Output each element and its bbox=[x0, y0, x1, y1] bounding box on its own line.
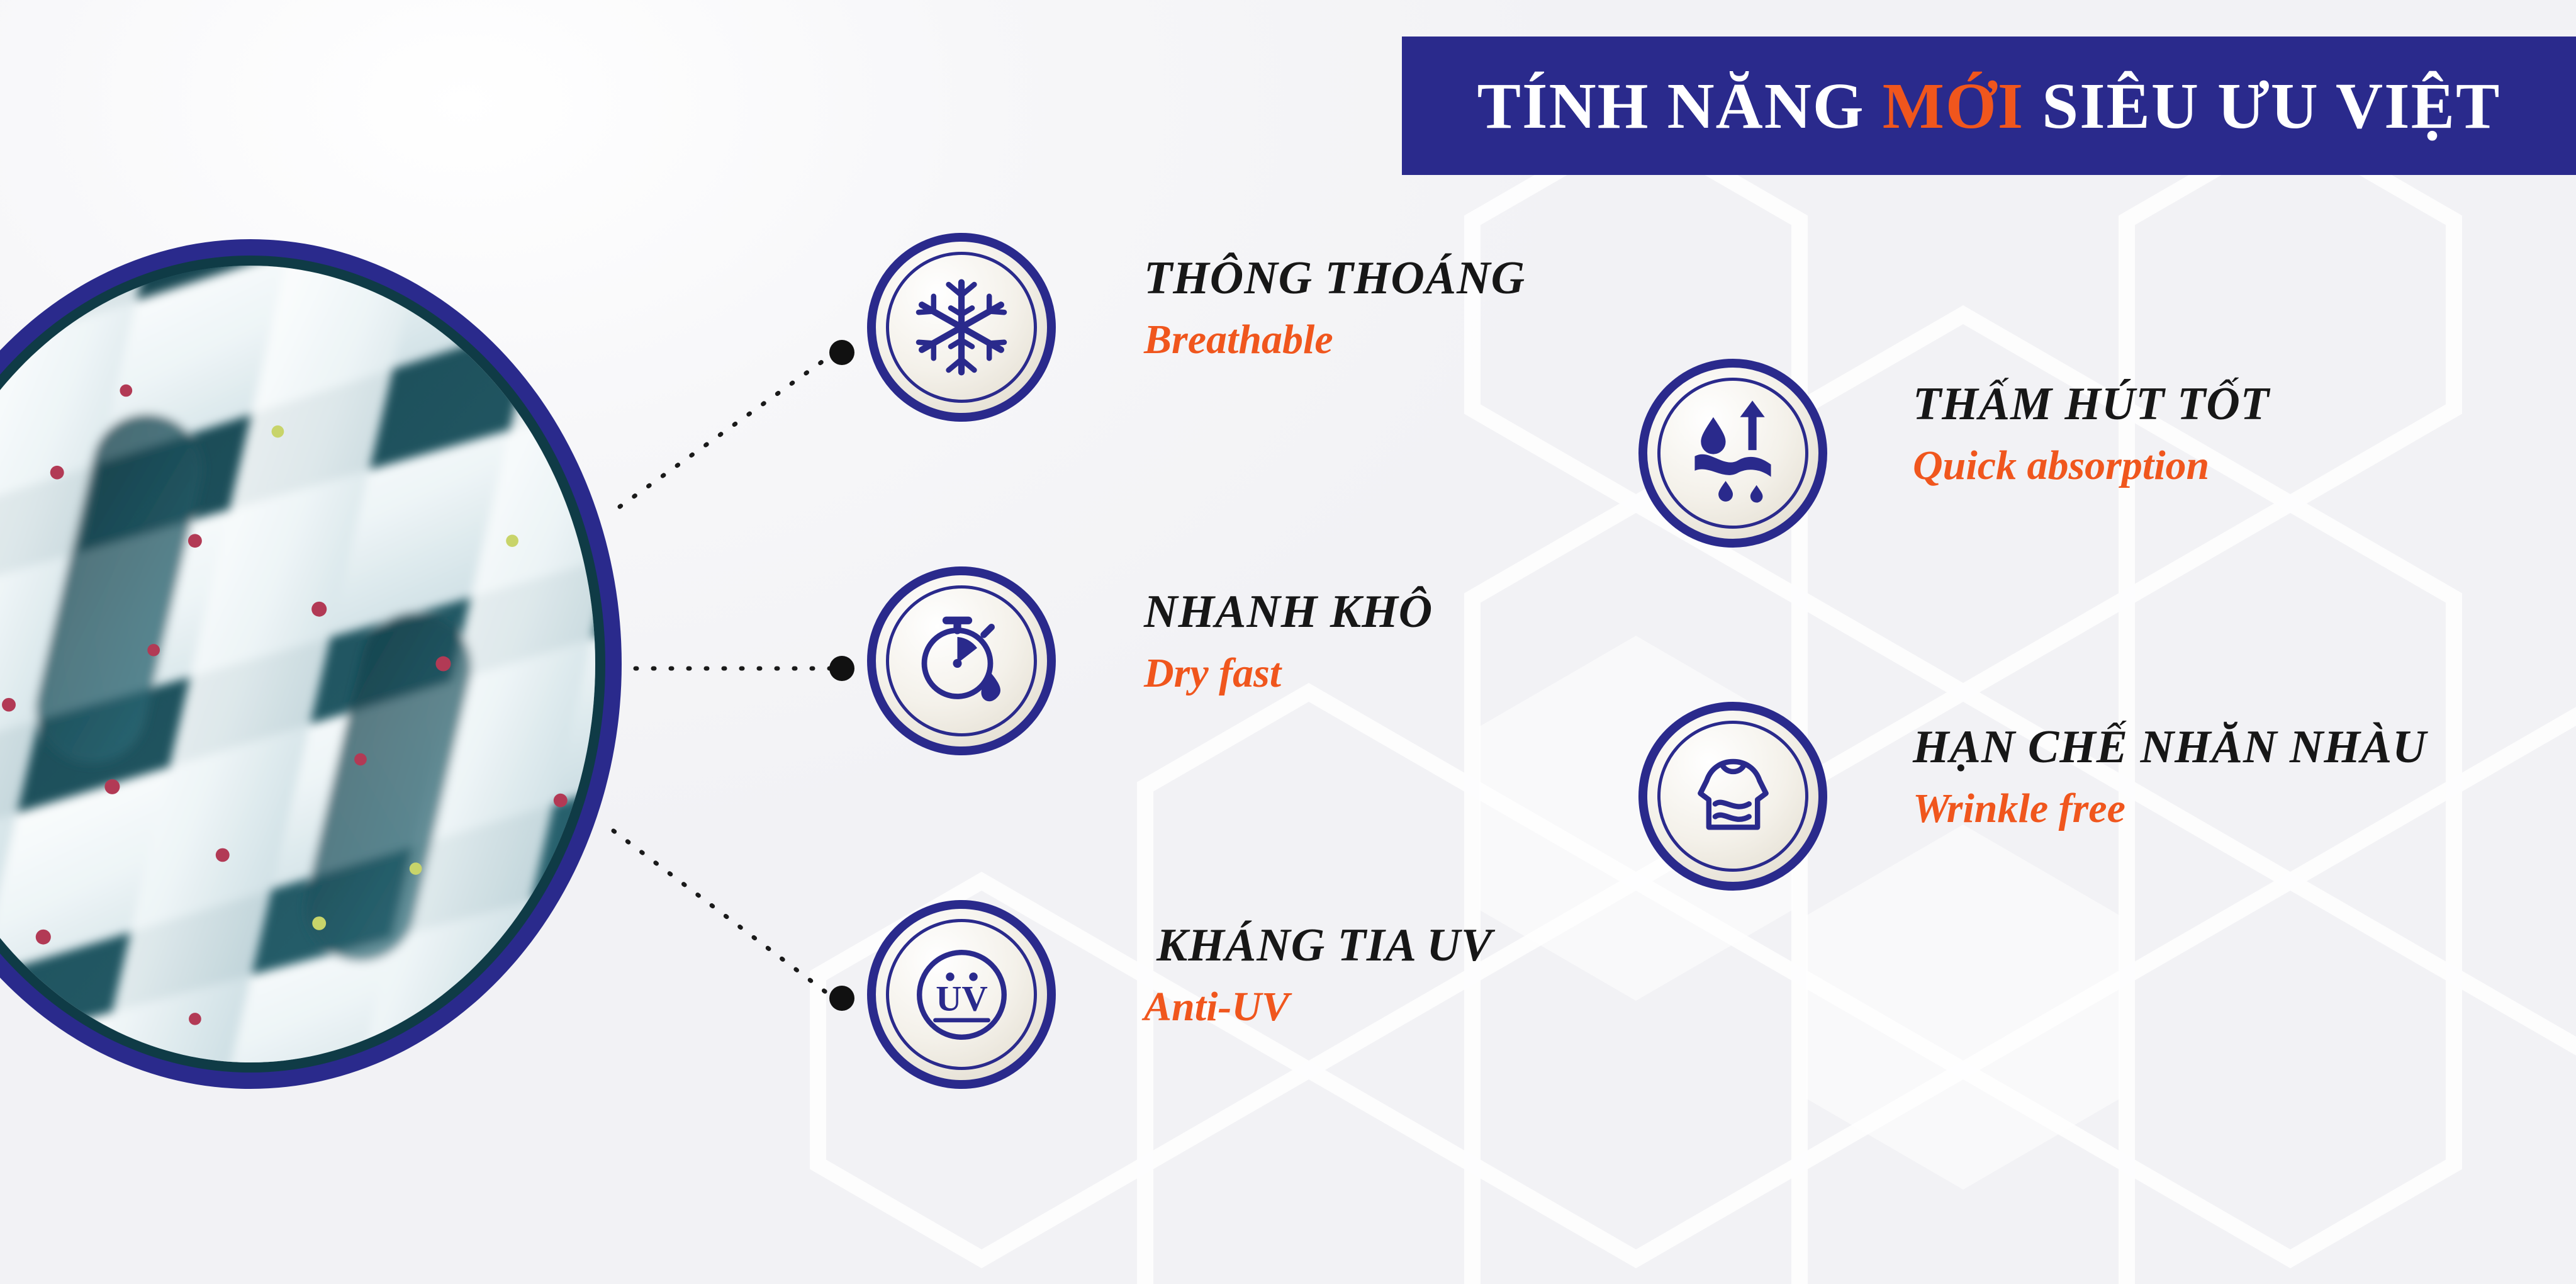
wrinkle-free-shirt-icon bbox=[1675, 738, 1791, 855]
feature-subtitle-dryfast: Dry fast bbox=[1144, 650, 1281, 697]
infographic-page: TÍNH NĂNG MỚI SIÊU ƯU VIỆT bbox=[0, 0, 2576, 1284]
feature-badge-absorb[interactable] bbox=[1638, 359, 1827, 548]
water-absorption-icon bbox=[1676, 397, 1789, 510]
banner-title-highlight: MỚI bbox=[1883, 70, 2025, 142]
feature-subtitle-breathable: Breathable bbox=[1144, 316, 1333, 364]
feature-title-absorb: THẤM HÚT TỐT bbox=[1913, 378, 2270, 431]
feature-subtitle-wrinkle: Wrinkle free bbox=[1913, 785, 2125, 833]
banner-title: TÍNH NĂNG MỚI SIÊU ƯU VIỆT bbox=[1477, 69, 2501, 144]
feature-title-wrinkle: HẠN CHẾ NHĂN NHÀU bbox=[1913, 721, 2427, 774]
feature-badge-dryfast[interactable] bbox=[867, 566, 1056, 755]
feature-badge-wrinkle[interactable] bbox=[1638, 702, 1827, 891]
fabric-photo-circle bbox=[0, 239, 622, 1089]
fabric-photo bbox=[0, 266, 595, 1062]
fabric-weave-closeup bbox=[0, 266, 595, 1062]
feature-subtitle-absorb: Quick absorption bbox=[1913, 442, 2209, 490]
snowflake-icon bbox=[908, 274, 1015, 381]
uv-shield-icon: UV bbox=[904, 937, 1020, 1053]
feature-badge-breathable[interactable] bbox=[867, 233, 1056, 422]
stopwatch-droplet-icon bbox=[907, 606, 1017, 716]
banner-title-part1: TÍNH NĂNG bbox=[1477, 70, 1883, 142]
header-banner: TÍNH NĂNG MỚI SIÊU ƯU VIỆT bbox=[1402, 37, 2576, 175]
feature-title-dryfast: NHANH KHÔ bbox=[1144, 585, 1433, 639]
svg-text:UV: UV bbox=[936, 979, 988, 1018]
feature-badge-antiuv[interactable]: UV bbox=[867, 900, 1056, 1089]
feature-title-antiuv: KHÁNG TIA UV bbox=[1156, 919, 1492, 972]
feature-title-breathable: THÔNG THOÁNG bbox=[1144, 252, 1525, 305]
banner-title-part2: SIÊU ƯU VIỆT bbox=[2024, 70, 2500, 142]
feature-subtitle-antiuv: Anti-UV bbox=[1144, 983, 1289, 1031]
